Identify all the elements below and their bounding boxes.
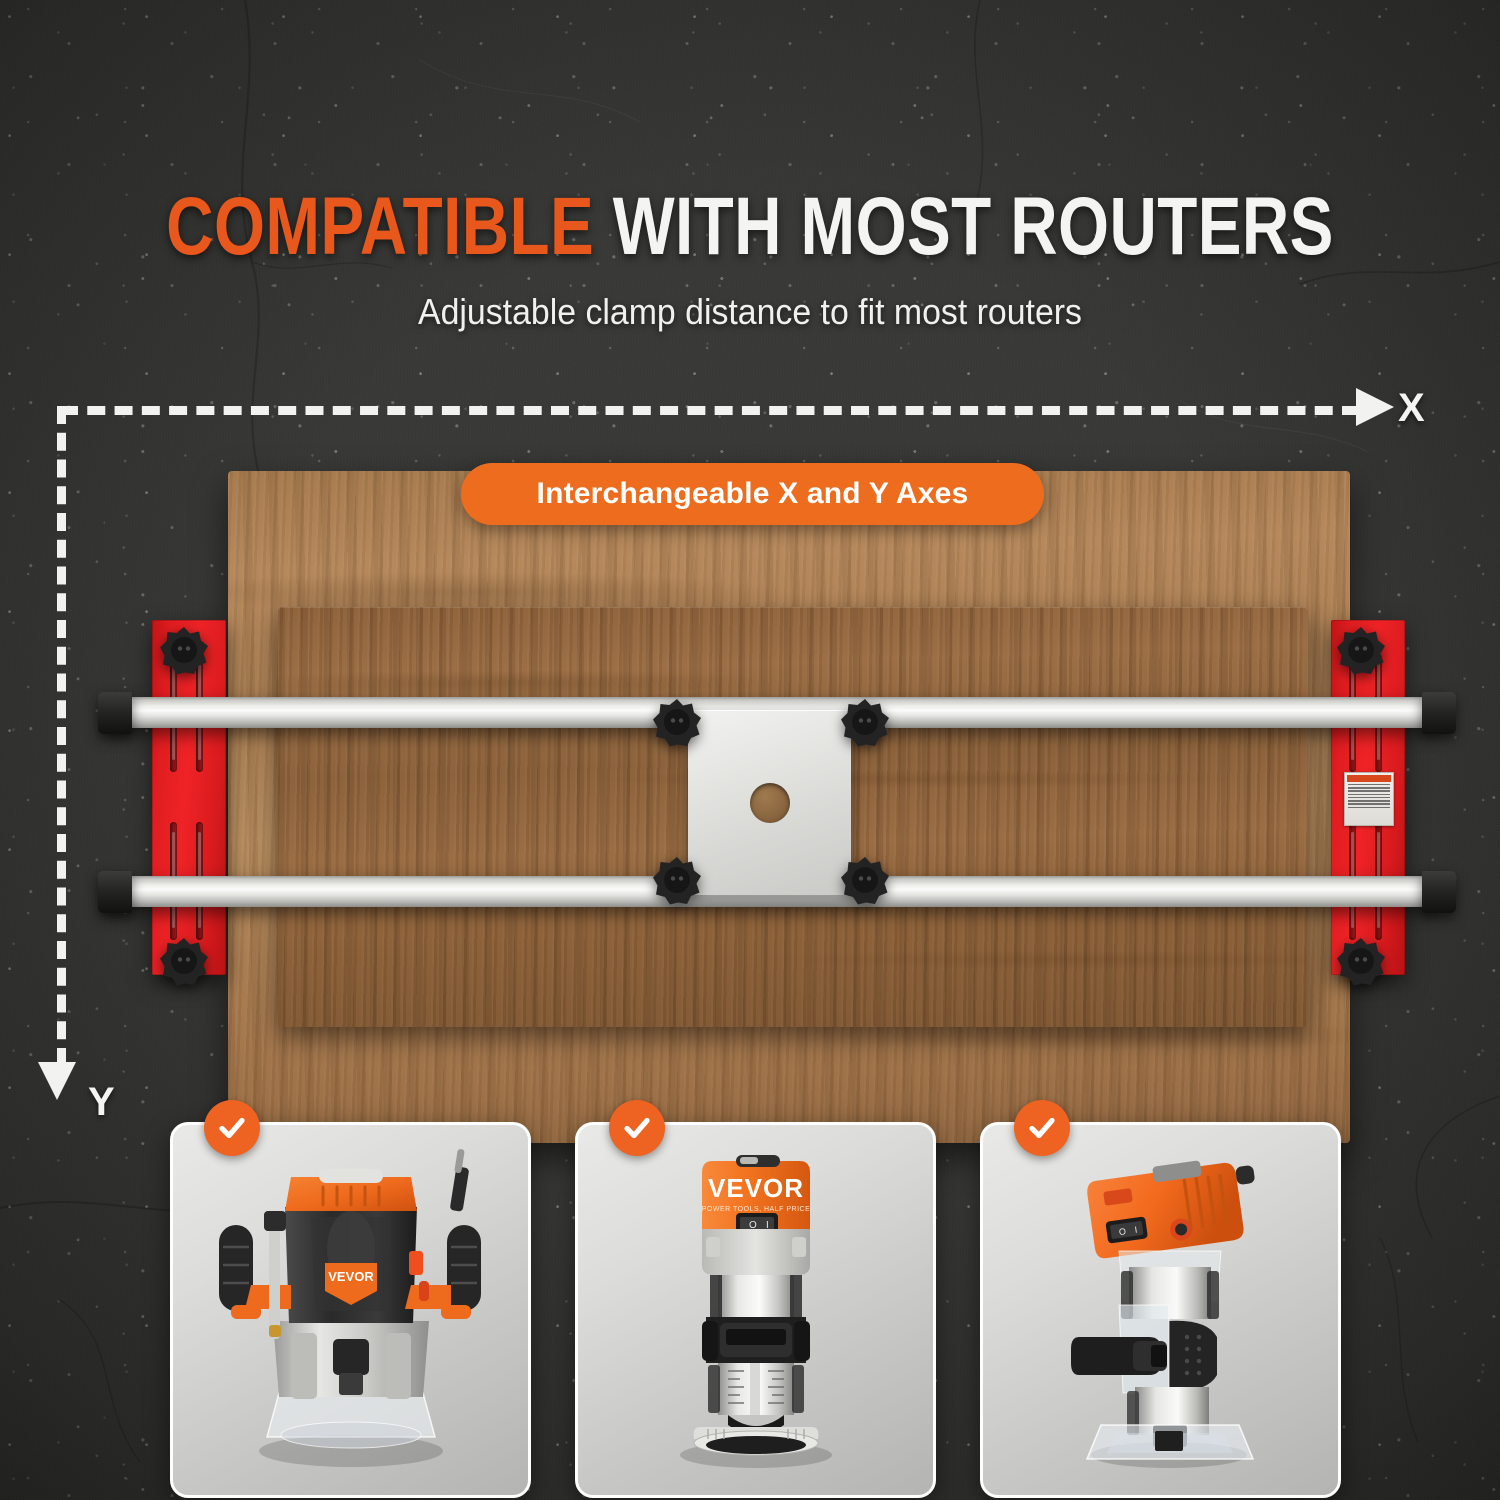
product-feature-image: COMPATIBLE WITH MOST ROUTERS Adjustable … [0, 0, 1500, 1500]
interchangeable-axes-badge: Interchangeable X and Y Axes [461, 463, 1044, 525]
y-axis-dashed-guide [57, 406, 66, 1066]
x-axis-dashed-guide [60, 406, 1360, 415]
star-knob-icon[interactable] [840, 697, 890, 747]
headline-highlight: COMPATIBLE [166, 181, 594, 272]
angled-trim-router-image: O I [983, 1125, 1338, 1495]
rail-end-cap [98, 871, 132, 913]
spec-label-line [1348, 784, 1390, 786]
svg-text:O: O [1118, 1226, 1126, 1237]
router-base-carriage-plate [688, 710, 851, 895]
check-badge-icon-2 [609, 1100, 665, 1156]
check-icon [1026, 1112, 1058, 1144]
star-knob-icon[interactable] [652, 855, 702, 905]
spec-label-line [1348, 803, 1390, 805]
y-axis-label: Y [88, 1080, 115, 1125]
router-bit-opening [750, 783, 790, 823]
star-knob-icon[interactable] [652, 697, 702, 747]
svg-text:POWER TOOLS, HALF PRICE: POWER TOOLS, HALF PRICE [702, 1206, 811, 1213]
spec-label-line [1348, 794, 1390, 796]
subheadline: Adjustable clamp distance to fit most ro… [45, 291, 1455, 333]
x-axis-label: X [1398, 386, 1425, 431]
product-spec-label [1344, 772, 1394, 826]
spec-label-line [1348, 790, 1390, 792]
compatible-router-card-2[interactable]: VEVOR POWER TOOLS, HALF PRICE O I [575, 1122, 936, 1498]
plunge-router-image: VEVOR [173, 1125, 528, 1495]
star-knob-icon[interactable] [159, 936, 209, 986]
compatible-router-card-1[interactable]: VEVOR [170, 1122, 531, 1498]
x-axis-arrowhead-icon [1356, 388, 1394, 426]
headline-rest: WITH MOST ROUTERS [594, 181, 1334, 272]
svg-text:VEVOR: VEVOR [708, 1173, 804, 1203]
rail-end-cap [98, 692, 132, 734]
spec-label-line [1348, 807, 1390, 809]
badge-label: Interchangeable X and Y Axes [537, 477, 969, 511]
check-badge-icon-3 [1014, 1100, 1070, 1156]
star-knob-icon[interactable] [840, 855, 890, 905]
star-knob-icon[interactable] [1336, 936, 1386, 986]
svg-text:VEVOR: VEVOR [328, 1269, 374, 1284]
check-icon [216, 1112, 248, 1144]
rail-end-cap [1422, 692, 1456, 734]
spec-label-line [1348, 800, 1390, 802]
compact-trim-router-image: VEVOR POWER TOOLS, HALF PRICE O I [578, 1125, 933, 1495]
spec-label-line [1348, 787, 1390, 789]
check-badge-icon-1 [204, 1100, 260, 1156]
compatible-router-card-3[interactable]: O I [980, 1122, 1341, 1498]
headline: COMPATIBLE WITH MOST ROUTERS [150, 186, 1350, 268]
star-knob-icon[interactable] [1336, 625, 1386, 675]
rail-end-cap [1422, 871, 1456, 913]
star-knob-icon[interactable] [159, 625, 209, 675]
spec-label-line [1348, 797, 1390, 799]
check-icon [621, 1112, 653, 1144]
y-axis-arrowhead-icon [38, 1062, 76, 1100]
spec-label-brand-bar [1347, 775, 1391, 782]
